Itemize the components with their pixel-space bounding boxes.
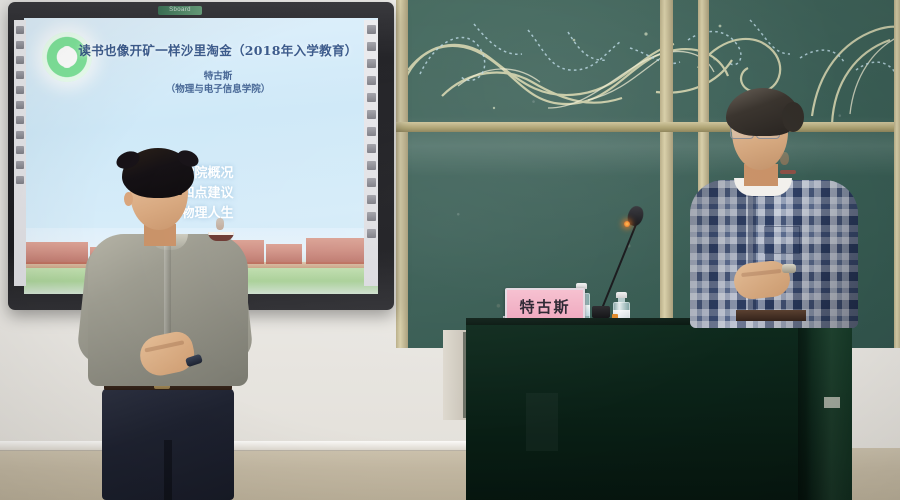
speaker-shirt-shading [690,180,858,328]
speaker-mouth [780,170,796,174]
undo-icon[interactable] [16,116,24,124]
text-icon[interactable] [16,101,24,109]
cloth-drape-fold [806,325,852,500]
keyboard-icon[interactable] [367,59,376,68]
cursor-icon[interactable] [367,25,376,34]
chalkboard-frame-mid [660,0,673,348]
undo-icon[interactable] [367,178,376,187]
host-ear [124,192,133,206]
save-icon[interactable] [16,161,24,169]
microphone-led-indicator [624,221,630,227]
name-card-label: 特古斯 [519,296,570,317]
host-trousers [102,388,234,500]
slide-title: 读书也像开矿一样沙里淘金（2018年入学教育） [68,40,368,59]
speaker-plaid-shirt [690,180,858,328]
cloth-highlight [526,393,558,451]
speaker-nose [780,152,789,165]
pen-icon[interactable] [367,110,376,119]
note-icon[interactable] [367,76,376,85]
photo-scene: Sboard 读书也像开矿一样沙里淘金（2018年入学教育） 特古斯 （物理与电… [0,0,900,500]
host-nose [216,218,224,230]
chalkboard-frame-left [396,0,408,348]
slide-affiliation: （物理与电子信息学院） [68,81,368,95]
chalkboard-frame-right [894,0,900,348]
person-speaker [686,88,866,328]
redo-icon[interactable] [16,131,24,139]
capture-icon[interactable] [367,161,376,170]
dots-icon[interactable] [367,93,376,102]
eraser-icon[interactable] [367,212,376,221]
person-host [78,148,263,500]
whiteboard-brand-logo: Sboard [158,6,202,15]
more-icon[interactable] [16,176,24,184]
pen-thin-icon[interactable] [367,127,376,136]
select-icon[interactable] [16,86,24,94]
microphone-base [592,306,610,318]
close-icon[interactable] [367,229,376,238]
table-cloth [466,325,852,500]
speaker-belt [736,310,806,321]
page-icon[interactable] [16,146,24,154]
shape-icon[interactable] [16,71,24,79]
slide-presenter-name: 特古斯 [68,68,368,82]
whiteboard-toolbar-left[interactable] [14,20,26,286]
highlighter-icon[interactable] [16,41,24,49]
eraser-icon[interactable] [16,56,24,64]
pen-icon[interactable] [16,26,24,34]
redo-icon[interactable] [367,195,376,204]
host-hair [122,148,194,198]
shape-icon[interactable] [367,42,376,51]
speaker-hair [726,88,800,136]
cloth-tag [824,397,840,408]
whiteboard-toolbar-right[interactable] [364,20,378,286]
marker-icon[interactable] [367,144,376,153]
speaker-wristwatch [782,264,796,273]
